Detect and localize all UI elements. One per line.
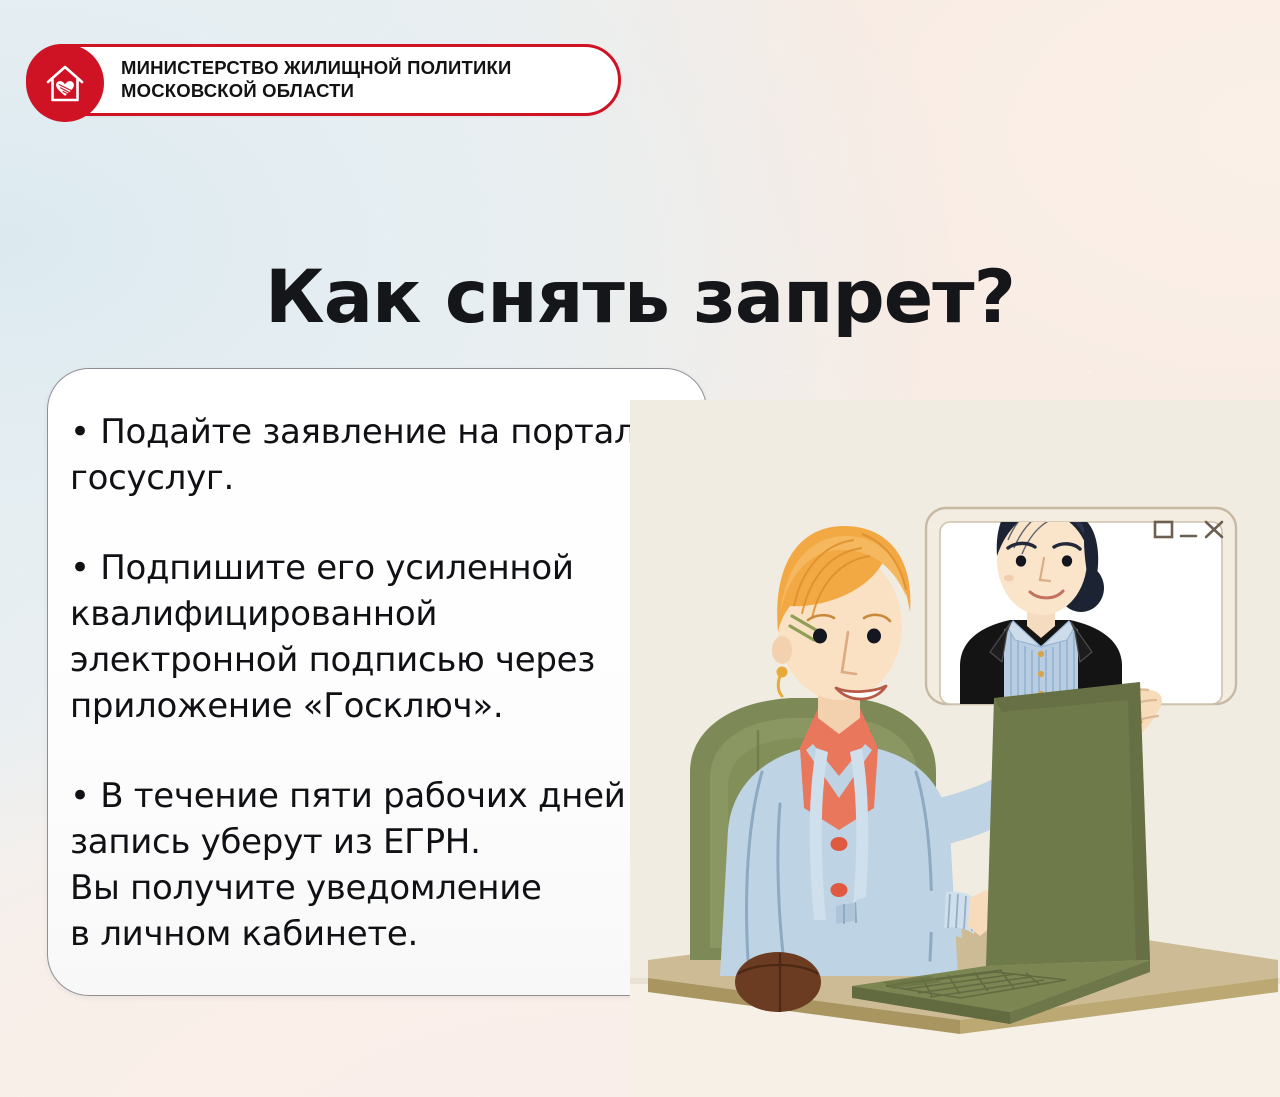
woman-at-desk-illustration [630,400,1280,1097]
ministry-name-label: МИНИСТЕРСТВО ЖИЛИЩНОЙ ПОЛИТИКИ МОСКОВСКО… [121,57,511,102]
steps-list: • Подайте заявление на портале госуслуг.… [70,409,706,957]
list-item: • В течение пяти рабочих дней запись убе… [70,773,690,957]
computer-mouse [735,952,821,1012]
list-item: • Подайте заявление на портале госуслуг. [70,409,690,501]
house-heart-icon [26,44,104,122]
ministry-logo-badge: МИНИСТЕРСТВО ЖИЛИЩНОЙ ПОЛИТИКИ МОСКОВСКО… [26,44,621,116]
list-item: • Подпишите его усиленной квалифицирован… [70,545,690,729]
steps-card: • Подайте заявление на портале госуслуг.… [47,368,707,996]
video-call-window [926,492,1236,704]
page-title: Как снять запрет? [0,255,1280,340]
poster-canvas: МИНИСТЕРСТВО ЖИЛИЩНОЙ ПОЛИТИКИ МОСКОВСКО… [0,0,1280,1097]
